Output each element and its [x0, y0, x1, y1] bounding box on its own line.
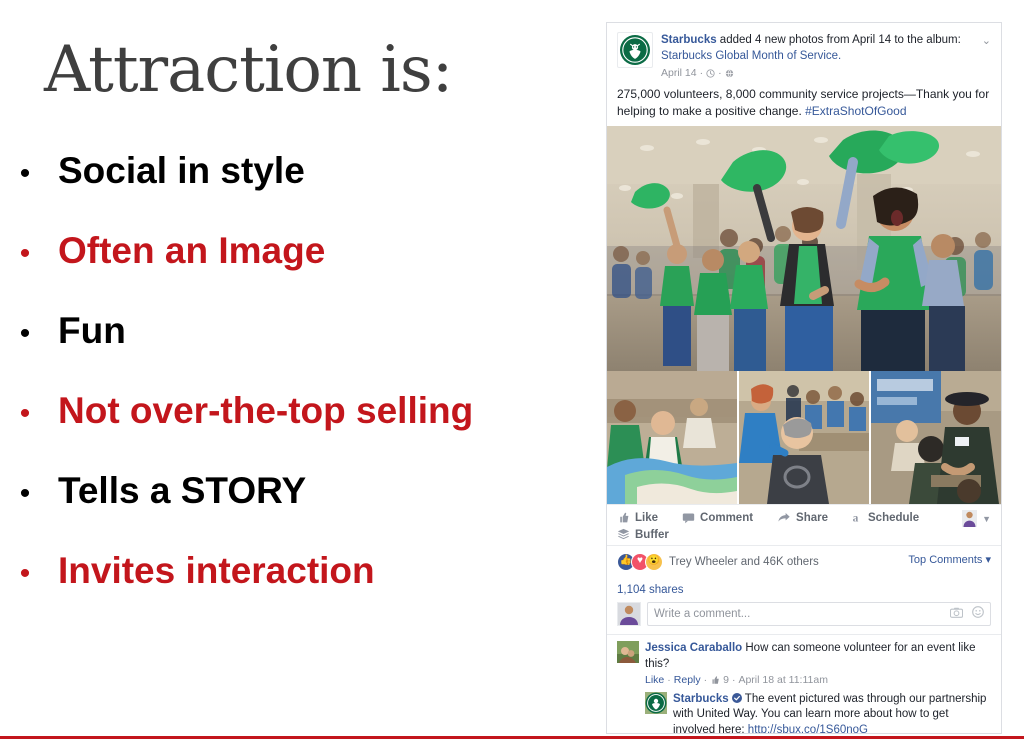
comment-label: Comment — [700, 512, 753, 524]
comment-reply-item: Starbucks The event pictured was through… — [645, 692, 991, 735]
comment-composer: Write a comment... — [607, 598, 1001, 634]
post-message: 275,000 volunteers, 8,000 community serv… — [607, 84, 1001, 126]
list-item: • Not over-the-top selling — [8, 392, 600, 472]
top-comments-dropdown[interactable]: Top Comments ▾ — [908, 553, 991, 566]
separator: · — [732, 673, 736, 687]
share-arrow-icon — [777, 511, 791, 524]
comment-item: Jessica Caraballo How can someone volunt… — [617, 641, 991, 687]
bullet-dot: • — [8, 319, 42, 349]
thumbs-up-icon — [710, 675, 720, 685]
bullet-dot: • — [8, 239, 42, 269]
comment-author-link[interactable]: Jessica Caraballo — [645, 642, 742, 654]
shares-count[interactable]: 1,104 shares — [607, 578, 1001, 598]
comment-body: Jessica Caraballo How can someone volunt… — [645, 641, 991, 687]
list-item: • Fun — [8, 312, 600, 392]
comment-input[interactable]: Write a comment... — [647, 602, 991, 626]
reply-link[interactable]: http://sbux.co/1S60noG — [748, 724, 868, 734]
like-button[interactable]: Like — [617, 511, 658, 524]
comment-like-button[interactable]: Like — [645, 673, 664, 687]
post-thumbnail-photo[interactable] — [871, 371, 1001, 504]
slide-bottom-rule — [0, 736, 1024, 739]
separator: · — [667, 673, 671, 687]
chevron-down-icon[interactable]: ⌄ — [982, 34, 991, 47]
starbucks-avatar-icon[interactable] — [645, 692, 667, 714]
comment-button[interactable]: Comment — [682, 511, 753, 524]
buffer-button[interactable]: Buffer — [617, 528, 991, 541]
comment-actions: Like · Reply · 9 · April 18 at 11:11am — [645, 673, 991, 687]
avatar — [617, 602, 641, 626]
bullet-text: Not over-the-top selling — [58, 392, 473, 431]
verified-badge-icon — [732, 693, 742, 703]
post-thumbnail-photo[interactable] — [607, 371, 737, 504]
bullet-text: Invites interaction — [58, 552, 375, 591]
page-name-link[interactable]: Starbucks — [661, 34, 717, 46]
chevron-down-icon: ▼ — [982, 514, 991, 524]
emoji-icon[interactable] — [972, 606, 984, 618]
post-action-text: added 4 new photos from April 14 to the … — [717, 34, 961, 46]
list-item: • Often an Image — [8, 232, 600, 312]
reply-author-link[interactable]: Starbucks — [673, 693, 729, 705]
bullet-text: Tells a STORY — [58, 472, 306, 511]
bullet-dot: • — [8, 479, 42, 509]
post-action-bar: Like Comment Share a Schedule — [607, 504, 1001, 545]
comments-section: Jessica Caraballo How can someone volunt… — [607, 634, 1001, 734]
schedule-button[interactable]: a Schedule — [852, 511, 919, 524]
schedule-label: Schedule — [868, 512, 919, 524]
bullet-text: Fun — [58, 312, 126, 351]
bullet-dot: • — [8, 559, 42, 589]
facebook-post-card: Starbucks added 4 new photos from April … — [606, 22, 1002, 734]
camera-icon[interactable] — [950, 607, 963, 618]
comment-bubble-icon — [682, 511, 695, 524]
comment-like-count: 9 — [723, 673, 729, 687]
meta-separator: · — [700, 66, 704, 80]
bullet-dot: • — [8, 399, 42, 429]
schedule-a-icon: a — [852, 511, 863, 524]
reply-body: Starbucks The event pictured was through… — [673, 692, 991, 735]
top-comments-label: Top Comments — [908, 554, 982, 566]
share-button[interactable]: Share — [777, 511, 828, 524]
post-meta: April 14 · · — [661, 66, 991, 80]
starbucks-logo-icon — [617, 32, 653, 68]
chevron-down-icon: ▾ — [985, 554, 991, 566]
comment-input-placeholder: Write a comment... — [654, 608, 750, 620]
bullet-dot: • — [8, 159, 42, 189]
post-thumbnail-row — [607, 371, 1001, 504]
buffer-label: Buffer — [635, 529, 669, 541]
share-label: Share — [796, 512, 828, 524]
hashtag-link[interactable]: #ExtraShotOfGood — [805, 104, 906, 118]
avatar — [962, 510, 977, 527]
reaction-icons[interactable]: 👍 ♥ 😮 — [617, 553, 663, 571]
reaction-summary-text[interactable]: Trey Wheeler and 46K others — [669, 556, 819, 568]
list-item: • Invites interaction — [8, 552, 600, 632]
thumbs-up-icon — [617, 511, 630, 524]
comment-timestamp[interactable]: April 18 at 11:11am — [738, 673, 828, 687]
post-message-text: 275,000 volunteers, 8,000 community serv… — [617, 87, 989, 118]
post-thumbnail-photo[interactable] — [739, 371, 869, 504]
post-main-photo[interactable] — [607, 126, 1001, 371]
separator: · — [704, 673, 708, 687]
post-reactions-row: 👍 ♥ 😮 Trey Wheeler and 46K others Top Co… — [607, 545, 1001, 578]
list-item: • Tells a STORY — [8, 472, 600, 552]
post-author-selector[interactable]: ▼ — [962, 510, 991, 527]
reaction-wow-icon: 😮 — [645, 553, 663, 571]
globe-icon — [725, 69, 734, 78]
bullet-text: Often an Image — [58, 232, 325, 271]
svg-text:a: a — [853, 513, 859, 524]
composer-icons — [950, 606, 984, 618]
page-title: Attraction is: — [44, 38, 452, 102]
like-label: Like — [635, 512, 658, 524]
bullet-list: • Social in style • Often an Image • Fun… — [8, 152, 600, 632]
meta-separator: · — [718, 66, 722, 80]
post-timestamp[interactable]: April 14 — [661, 66, 697, 80]
slide-left-column: Attraction is: • Social in style • Often… — [0, 0, 600, 745]
presentation-slide: Attraction is: • Social in style • Often… — [0, 0, 1024, 745]
comment-reply-button[interactable]: Reply — [674, 673, 701, 687]
bullet-text: Social in style — [58, 152, 305, 191]
avatar[interactable] — [617, 641, 639, 663]
list-item: • Social in style — [8, 152, 600, 232]
buffer-layers-icon — [617, 528, 630, 541]
clock-icon — [706, 69, 715, 78]
album-name-link[interactable]: Starbucks Global Month of Service. — [661, 50, 841, 62]
post-header: Starbucks added 4 new photos from April … — [607, 23, 1001, 84]
post-header-text: Starbucks added 4 new photos from April … — [661, 32, 991, 80]
